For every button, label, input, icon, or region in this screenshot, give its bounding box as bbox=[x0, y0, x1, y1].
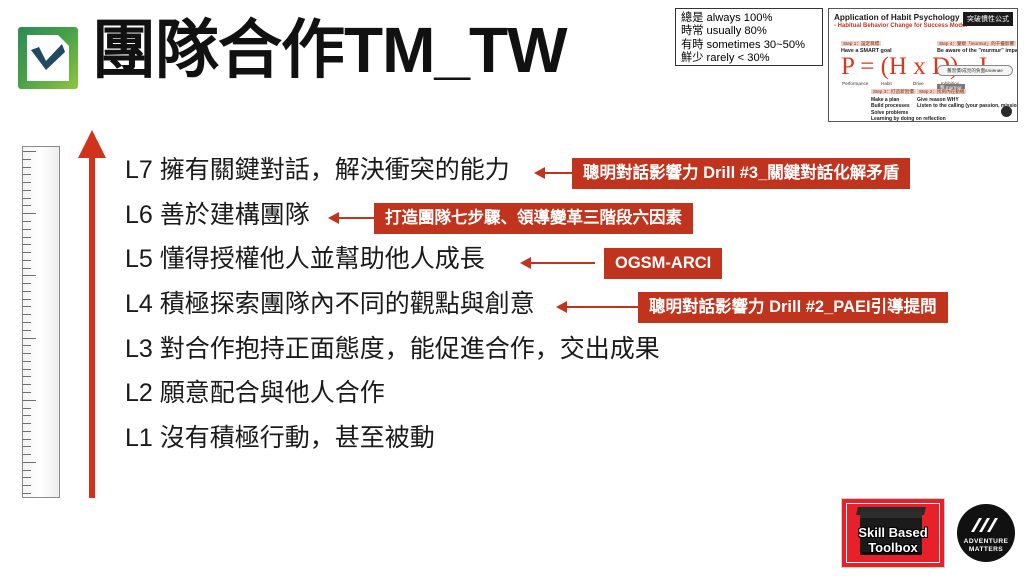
ruler-tick bbox=[23, 159, 29, 160]
level-row-l4: L4 積極探索團隊內不同的觀點與創意 bbox=[125, 290, 535, 319]
ruler-tick bbox=[23, 322, 29, 323]
ruler-tick bbox=[23, 330, 29, 331]
habit-card-badge: 突破慣性公式 bbox=[963, 12, 1013, 26]
level-code: L5 bbox=[125, 245, 153, 273]
toolbox-label-line2: Toolbox bbox=[842, 540, 944, 555]
ruler-tick bbox=[23, 423, 29, 424]
legend-en: sometimes 30~50% bbox=[707, 39, 806, 51]
ruler-tick bbox=[23, 190, 29, 191]
ruler-tick bbox=[23, 213, 34, 214]
level-code: L3 bbox=[125, 335, 153, 363]
arrow-line bbox=[543, 172, 574, 174]
legend-cn: 鮮少 bbox=[681, 52, 703, 64]
level-code: L7 bbox=[125, 156, 153, 184]
ruler-tick bbox=[23, 408, 29, 409]
level-row-l7: L7 擁有關鍵對話，解決衝突的能力 bbox=[125, 156, 510, 185]
level-row-l6: L6 善於建構團隊 bbox=[125, 201, 310, 230]
ruler-tick bbox=[23, 400, 34, 401]
legend-row: 時常 usually 80% bbox=[681, 25, 818, 38]
callout-l6[interactable]: 打造團隊七步驟、領導變革三階段六因素 bbox=[374, 203, 693, 234]
adventure-label-line2: MATTERS bbox=[957, 546, 1015, 553]
callout-l4[interactable]: 聰明對話影響力 Drill #2_PAEI引導提問 bbox=[638, 292, 948, 323]
level-row-l1: L1 沒有積極行動，甚至被動 bbox=[125, 424, 435, 453]
ruler-tick bbox=[23, 338, 34, 339]
habit-step-1-label: Step 1：設定目標 bbox=[841, 41, 881, 46]
ruler-tick bbox=[23, 392, 29, 393]
level-text: 對合作抱持正面態度，能促進合作，交出成果 bbox=[160, 335, 660, 363]
ruler-tick bbox=[23, 291, 29, 292]
arrow-line bbox=[529, 262, 595, 264]
chevron-stack-icon bbox=[969, 516, 1003, 534]
ruler-tick bbox=[23, 237, 29, 238]
ruler-tick bbox=[23, 275, 34, 276]
level-code: L2 bbox=[125, 379, 153, 407]
up-arrow-shaft bbox=[89, 154, 95, 498]
callout-arrow-l5 bbox=[520, 257, 595, 269]
ruler-tick bbox=[23, 182, 29, 183]
ruler-tick bbox=[23, 439, 29, 440]
ruler-tick bbox=[23, 244, 29, 245]
adventure-label-line1: ADVENTURE bbox=[957, 538, 1015, 545]
frequency-legend: 總是 always 100% 時常 usually 80% 有時 sometim… bbox=[675, 8, 823, 66]
ruler-tick bbox=[23, 454, 29, 455]
habit-psychology-thumbnail: Application of Habit Psychology - Habitu… bbox=[828, 8, 1018, 122]
habit-card-watermark-icon bbox=[1001, 106, 1012, 117]
ruler-tick bbox=[23, 376, 29, 377]
ruler-tick bbox=[23, 470, 29, 471]
ruler-tick bbox=[23, 229, 29, 230]
legend-en: usually 80% bbox=[707, 25, 767, 37]
arrow-line bbox=[337, 217, 376, 219]
ruler-tick bbox=[23, 205, 29, 206]
ruler-tick bbox=[23, 306, 29, 307]
ruler-tick bbox=[23, 167, 29, 168]
ruler-tick bbox=[23, 431, 29, 432]
habit-step-3-label: Step 3：打造新習慣 bbox=[871, 89, 916, 94]
habit-note-line1: 舊習慣/成見的負面влияние bbox=[937, 65, 1013, 76]
ruler-tick bbox=[23, 384, 29, 385]
callout-arrow-l4 bbox=[556, 301, 640, 313]
ruler-tick bbox=[23, 415, 29, 416]
callout-arrow-l7 bbox=[534, 167, 574, 179]
ruler-tick bbox=[23, 345, 29, 346]
habit-caption-performance: Performance bbox=[842, 81, 868, 86]
level-row-l3: L3 對合作抱持正面態度，能促進合作，交出成果 bbox=[125, 335, 660, 364]
callout-arrow-l6 bbox=[328, 212, 376, 224]
ruler-tick bbox=[23, 198, 29, 199]
ruler-tick bbox=[23, 151, 34, 152]
growth-up-arrow bbox=[78, 130, 106, 498]
legend-row: 總是 always 100% bbox=[681, 12, 818, 25]
ruler-tick bbox=[23, 361, 29, 362]
ruler-tick bbox=[23, 268, 29, 269]
ruler-tick bbox=[23, 462, 34, 463]
legend-row: 有時 sometimes 30~50% bbox=[681, 39, 818, 52]
level-text: 沒有積極行動，甚至被動 bbox=[160, 424, 435, 452]
level-code: L4 bbox=[125, 290, 153, 318]
ruler-tick bbox=[23, 299, 29, 300]
ruler-tick bbox=[23, 485, 29, 486]
level-code: L6 bbox=[125, 201, 153, 229]
callout-l5[interactable]: OGSM-ARCI bbox=[604, 248, 722, 279]
legend-cn: 時常 bbox=[681, 25, 703, 37]
habit-step-3: Step 3：打造新習慣 bbox=[871, 89, 916, 95]
callout-l7[interactable]: 聰明對話影響力 Drill #3_關鍵對話化解矛盾 bbox=[572, 158, 910, 189]
habit-card-subtitle: - Habitual Behavior Change for Success M… bbox=[834, 23, 967, 29]
ruler-tick bbox=[23, 493, 29, 494]
level-text: 積極探索團隊內不同的觀點與創意 bbox=[160, 290, 535, 318]
ruler-tick bbox=[23, 221, 29, 222]
level-row-l2: L2 願意配合與他人合作 bbox=[125, 379, 385, 408]
legend-en: rarely < 30% bbox=[707, 52, 770, 64]
habit-step-3-bullet: Learning by doing on reflection bbox=[871, 116, 946, 122]
habit-step-2: Step 2：找到內在動機 bbox=[917, 89, 966, 95]
legend-row: 鮮少 rarely < 30% bbox=[681, 52, 818, 65]
page-title: 團隊合作TM_TW bbox=[92, 18, 567, 82]
habit-caption-habit: Habit bbox=[881, 81, 892, 86]
ruler-tick bbox=[23, 369, 29, 370]
ruler-tick bbox=[23, 353, 29, 354]
habit-step-4-label: Step 4：覺察「murmur」的干擾影響 bbox=[937, 41, 1016, 46]
toolbox-label-line1: Skill Based bbox=[842, 525, 944, 540]
ruler-tick bbox=[23, 283, 29, 284]
habit-step-2-label: Step 2：找到內在動機 bbox=[917, 89, 966, 94]
legend-cn: 有時 bbox=[681, 39, 703, 51]
level-code: L1 bbox=[125, 424, 153, 452]
level-text: 願意配合與他人合作 bbox=[160, 379, 385, 407]
level-row-l5: L5 懂得授權他人並幫助他人成長 bbox=[125, 245, 485, 274]
level-text: 擁有關鍵對話，解決衝突的能力 bbox=[160, 156, 510, 184]
ruler-tick bbox=[23, 446, 29, 447]
arrow-line bbox=[565, 306, 640, 308]
habit-caption-drive: Drive bbox=[913, 81, 924, 86]
adventure-matters-logo: ADVENTURE MATTERS bbox=[957, 504, 1015, 562]
ruler-tick bbox=[23, 174, 29, 175]
level-text: 善於建構團隊 bbox=[160, 201, 310, 229]
ruler-tick bbox=[23, 260, 29, 261]
level-text: 懂得授權他人並幫助他人成長 bbox=[160, 245, 485, 273]
ruler-tick bbox=[23, 252, 29, 253]
habit-card-title: Application of Habit Psychology bbox=[834, 13, 960, 22]
legend-en: always 100% bbox=[707, 12, 773, 24]
legend-cn: 總是 bbox=[681, 12, 703, 24]
ruler-graphic bbox=[22, 146, 60, 498]
skill-based-toolbox-logo: Skill Based Toolbox bbox=[841, 498, 945, 568]
logo-checkmark-icon bbox=[31, 44, 65, 70]
brand-checkbox-logo bbox=[18, 27, 78, 89]
ruler-tick bbox=[23, 477, 29, 478]
ruler-tick bbox=[23, 314, 29, 315]
